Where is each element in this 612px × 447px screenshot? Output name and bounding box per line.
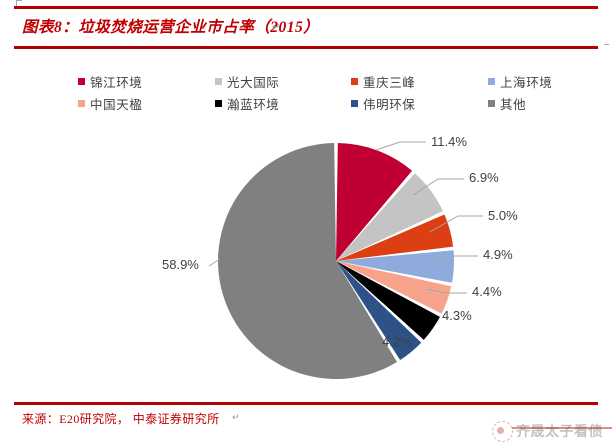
leader-line-jinjiang [376, 142, 426, 150]
legend-item-label: 上海环境 [500, 72, 552, 91]
data-label-jinjiang: 11.4% [431, 134, 467, 149]
legend-swatch-icon [488, 78, 495, 85]
legend-swatch-icon [78, 78, 85, 85]
page-corner-mark-top-left-horizontal [16, 0, 22, 1]
legend-item-0[interactable]: 锦江环境 [78, 70, 142, 92]
pie-slice-group [218, 143, 454, 379]
data-label-tianying: 4.4% [472, 284, 502, 299]
legend-item-label: 光大国际 [227, 72, 279, 91]
watermark-logo-icon [492, 421, 513, 442]
pie-chart-svg: 11.4%6.9%5.0%4.9%4.4%4.3%4.2%58.9% [14, 106, 598, 394]
legend-swatch-icon [215, 78, 222, 85]
data-label-chongqing: 5.0% [488, 208, 518, 223]
bottom-divider-rule [14, 402, 598, 405]
title-divider-rule [14, 46, 598, 49]
source-paragraph-mark: ↵ [232, 412, 240, 423]
top-divider-rule [14, 6, 598, 9]
legend-row-1: 锦江环境光大国际重庆三峰上海环境 [58, 70, 588, 92]
data-label-qita: 58.9% [162, 257, 199, 272]
data-label-shanghai: 4.9% [483, 247, 513, 262]
figure-container: 图表8：垃圾焚烧运营企业市占率（2015） ↵ 锦江环境光大国际重庆三峰上海环境… [14, 6, 598, 438]
page-corner-mark-top-right [604, 44, 609, 45]
watermark-strikethrough [512, 427, 612, 429]
source-note: 来源：E20研究院， 中泰证券研究所 [22, 410, 220, 427]
legend-item-3[interactable]: 上海环境 [488, 70, 552, 92]
watermark: 齐晟太子看债 [492, 416, 612, 446]
watermark-label: 齐晟太子看债 [516, 421, 603, 441]
data-label-guangda: 6.9% [469, 170, 499, 185]
legend-item-1[interactable]: 光大国际 [215, 70, 279, 92]
data-label-hanlan: 4.3% [442, 308, 472, 323]
legend-item-label: 重庆三峰 [363, 72, 415, 91]
data-label-weiming: 4.2% [382, 334, 412, 349]
legend-item-label: 锦江环境 [90, 72, 142, 91]
pie-chart-area: 11.4%6.9%5.0%4.9%4.4%4.3%4.2%58.9% [14, 106, 598, 394]
legend-swatch-icon [351, 78, 358, 85]
title-paragraph-mark: ↵ [272, 22, 280, 33]
legend-item-2[interactable]: 重庆三峰 [351, 70, 415, 92]
